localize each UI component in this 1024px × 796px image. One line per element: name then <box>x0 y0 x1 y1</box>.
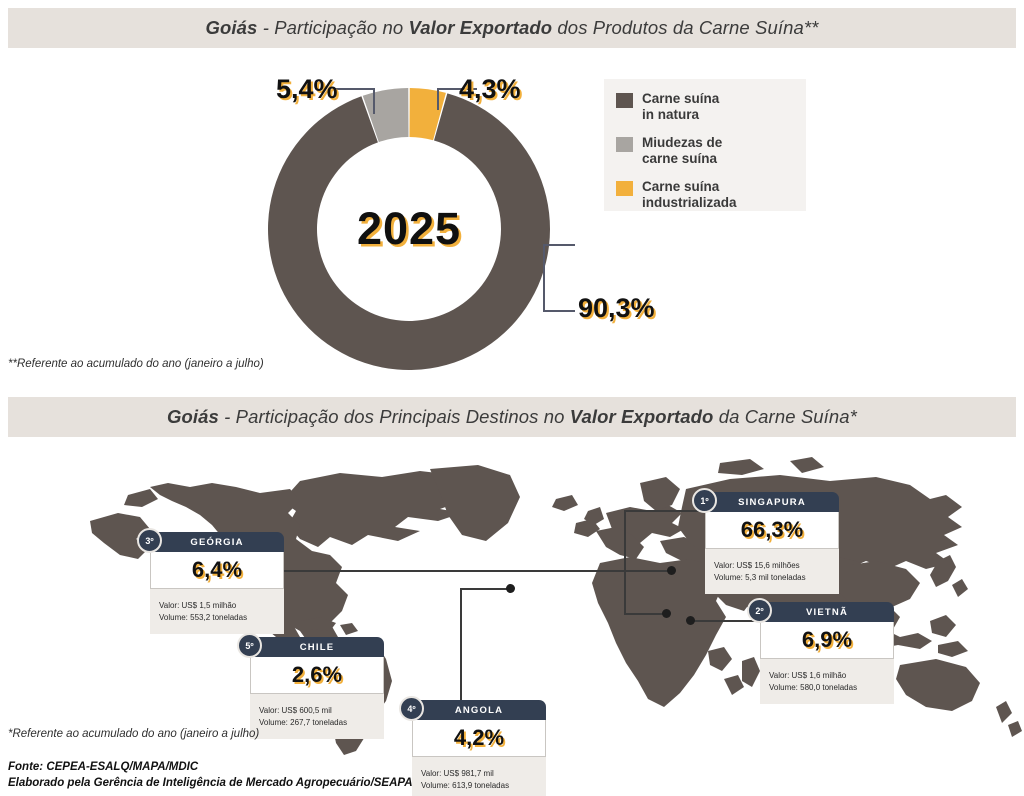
rank-badge: 2º <box>747 598 772 623</box>
country-name: VIETNÃ <box>806 607 848 618</box>
country-name: ANGOLA <box>455 705 503 716</box>
rank-badge: 4º <box>399 696 424 721</box>
destination-card-chile[interactable]: 5º CHILE 2,6% Valor: US$ 600,5 mil Volum… <box>250 637 384 739</box>
donut-section-title-band: Goiás - Participação no Valor Exportado … <box>8 8 1016 48</box>
card-header: 4º ANGOLA <box>412 700 546 720</box>
legend-item-miudezas[interactable]: Miudezas de carne suína <box>616 135 796 168</box>
detail-volume: Volume: 553,2 toneladas <box>159 612 275 624</box>
leader-line-dark-h2 <box>543 310 575 312</box>
card-details: Valor: US$ 1,5 milhão Volume: 553,2 tone… <box>150 589 284 634</box>
connector-singapura-h2 <box>624 613 666 615</box>
country-name: GEÓRGIA <box>190 537 243 548</box>
detail-volume: Volume: 580,0 toneladas <box>769 682 885 694</box>
card-header: 2º VIETNÃ <box>760 602 894 622</box>
page-title-top: Goiás - Participação no Valor Exportado … <box>206 17 819 39</box>
card-header: 3º GEÓRGIA <box>150 532 284 552</box>
connector-vietna-h <box>692 620 758 622</box>
detail-volume: Volume: 5,3 mil toneladas <box>714 572 830 584</box>
infographic-page: Goiás - Participação no Valor Exportado … <box>0 0 1024 796</box>
card-header: 1º SINGAPURA <box>705 492 839 512</box>
leader-line-dark-v <box>543 244 545 312</box>
card-details: Valor: US$ 1,6 milhão Volume: 580,0 tone… <box>760 659 894 704</box>
legend-swatch-icon <box>616 181 633 196</box>
card-header: 5º CHILE <box>250 637 384 657</box>
map-section-title-band: Goiás - Participação dos Principais Dest… <box>8 397 1016 437</box>
donut-label-in-natura: 90,3% <box>578 293 655 324</box>
rank-badge: 5º <box>237 633 262 658</box>
legend-item-in-natura[interactable]: Carne suína in natura <box>616 91 796 124</box>
destination-card-singapura[interactable]: 1º SINGAPURA 66,3% Valor: US$ 15,6 milhõ… <box>705 492 839 594</box>
donut-segment-in-natura[interactable] <box>268 93 550 370</box>
map-dot-georgia <box>667 566 676 575</box>
donut-label-industrializada: 4,3% <box>459 74 521 105</box>
title-mid-post: da Carne Suína* <box>713 406 857 427</box>
map-dot-angola <box>506 584 515 593</box>
legend-swatch-icon <box>616 137 633 152</box>
country-percent: 2,6% <box>250 657 384 694</box>
legend-swatch-icon <box>616 93 633 108</box>
title-mid-mid: - Participação dos Principais Destinos n… <box>219 406 570 427</box>
title-top-mid: - Participação no <box>257 17 408 38</box>
rank-badge: 3º <box>137 528 162 553</box>
title-mid-bold: Valor Exportado <box>570 406 714 427</box>
source-credit: Fonte: CEPEA-ESALQ/MAPA/MDIC Elaborado p… <box>8 760 413 791</box>
detail-valor: Valor: US$ 600,5 mil <box>259 705 375 717</box>
country-name: CHILE <box>300 642 335 653</box>
title-top-state: Goiás <box>206 17 258 38</box>
title-top-post: dos Produtos da Carne Suína** <box>552 17 818 38</box>
destination-card-georgia[interactable]: 3º GEÓRGIA 6,4% Valor: US$ 1,5 milhão Vo… <box>150 532 284 634</box>
donut-chart: 2025 <box>268 88 550 370</box>
donut-svg <box>268 88 550 370</box>
card-details: Valor: US$ 15,6 milhões Volume: 5,3 mil … <box>705 549 839 594</box>
connector-angola-v <box>460 588 462 701</box>
footnote-map: *Referente ao acumulado do ano (janeiro … <box>8 728 259 740</box>
connector-georgia <box>283 570 671 572</box>
leader-line-gray-v <box>373 88 375 114</box>
detail-volume: Volume: 613,9 toneladas <box>421 780 537 792</box>
leader-line-dark-h1 <box>543 244 575 246</box>
title-top-bold: Valor Exportado <box>408 17 552 38</box>
legend-label: Miudezas de carne suína <box>642 135 722 168</box>
legend-label: Carne suína in natura <box>642 91 719 124</box>
map-dot-vietna <box>686 616 695 625</box>
card-details: Valor: US$ 600,5 mil Volume: 267,7 tonel… <box>250 694 384 739</box>
card-details: Valor: US$ 981,7 mil Volume: 613,9 tonel… <box>412 757 546 796</box>
legend-label: Carne suína industrializada <box>642 179 737 212</box>
title-mid-state: Goiás <box>167 406 219 427</box>
legend-item-industrializada[interactable]: Carne suína industrializada <box>616 179 796 212</box>
destination-card-angola[interactable]: 4º ANGOLA 4,2% Valor: US$ 981,7 mil Volu… <box>412 700 546 796</box>
connector-singapura-h <box>624 510 706 512</box>
leader-line-yellow-v <box>437 88 439 110</box>
connector-angola-h <box>460 588 510 590</box>
donut-label-miudezas: 5,4% <box>276 74 338 105</box>
country-percent: 6,4% <box>150 552 284 589</box>
donut-legend: Carne suína in natura Miudezas de carne … <box>604 79 806 211</box>
country-percent: 4,2% <box>412 720 546 757</box>
rank-badge: 1º <box>692 488 717 513</box>
detail-valor: Valor: US$ 1,5 milhão <box>159 600 275 612</box>
destination-card-vietna[interactable]: 2º VIETNÃ 6,9% Valor: US$ 1,6 milhão Vol… <box>760 602 894 704</box>
detail-valor: Valor: US$ 981,7 mil <box>421 768 537 780</box>
country-percent: 66,3% <box>705 512 839 549</box>
page-title-mid: Goiás - Participação dos Principais Dest… <box>167 406 857 428</box>
map-dot-singapura <box>662 609 671 618</box>
country-name: SINGAPURA <box>738 497 806 508</box>
connector-singapura-v <box>624 510 626 615</box>
country-percent: 6,9% <box>760 622 894 659</box>
detail-volume: Volume: 267,7 toneladas <box>259 717 375 729</box>
detail-valor: Valor: US$ 1,6 milhão <box>769 670 885 682</box>
detail-valor: Valor: US$ 15,6 milhões <box>714 560 830 572</box>
leader-line-gray-h <box>333 88 375 90</box>
footnote-top: **Referente ao acumulado do ano (janeiro… <box>8 358 264 370</box>
